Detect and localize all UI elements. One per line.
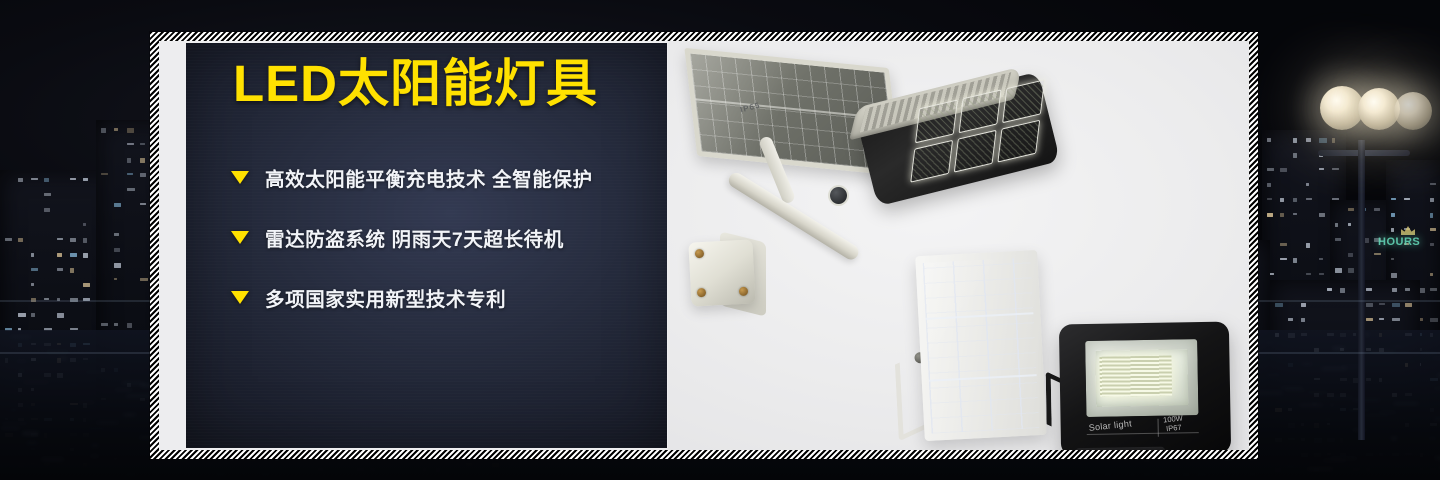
building-window <box>1319 273 1324 275</box>
building-sign: HOURS <box>1378 236 1434 262</box>
water-reflection <box>1432 357 1440 359</box>
flood-light-reflector <box>1085 339 1198 417</box>
building-window <box>1430 273 1433 276</box>
building-window <box>114 278 117 280</box>
reflector-inner <box>1095 349 1188 407</box>
water-reflection <box>9 409 18 411</box>
water-reflection <box>1 427 19 429</box>
building-window <box>1348 268 1354 273</box>
water-reflection <box>1330 458 1357 459</box>
building-window <box>1280 243 1287 246</box>
building-window <box>1340 288 1345 293</box>
water-reflection <box>1307 392 1329 393</box>
building-window <box>83 223 86 226</box>
water-reflection <box>65 381 70 382</box>
building-window <box>1319 213 1325 217</box>
waterfront-railing <box>1258 300 1440 302</box>
building-window <box>1267 138 1271 142</box>
building-window <box>70 253 77 257</box>
building-window <box>1430 213 1433 218</box>
water-reflection <box>1301 363 1314 365</box>
building-window <box>140 143 145 145</box>
building-window <box>31 253 34 257</box>
feature-text: 多项国家实用新型技术专利 <box>265 283 506 312</box>
led-module <box>910 139 953 182</box>
triangle-down-icon <box>231 291 249 304</box>
water-reflection <box>1323 419 1334 420</box>
water-reflection <box>78 401 94 404</box>
water-reflection <box>115 389 132 392</box>
building-window <box>57 238 63 240</box>
building-window <box>127 128 134 133</box>
building-window <box>127 323 132 328</box>
building-window <box>1293 153 1297 158</box>
water-reflection <box>22 432 39 434</box>
building-window <box>1293 258 1297 263</box>
flood-light-foot <box>1075 447 1165 450</box>
water-reflection <box>18 458 32 460</box>
triangle-down-icon <box>231 171 249 184</box>
flood-light-spec: 100W IP67 <box>1163 414 1184 435</box>
building-window <box>44 178 49 182</box>
waterfront-railing <box>1258 352 1440 354</box>
arm-pivot-joint <box>830 187 847 204</box>
building-window <box>83 283 90 287</box>
building-window <box>127 173 133 175</box>
building-window <box>1280 213 1284 217</box>
building-window <box>57 253 62 257</box>
building-window <box>31 283 34 286</box>
building-window <box>1280 258 1287 260</box>
building-window <box>1391 213 1395 217</box>
building-window <box>101 173 108 175</box>
water-reflection <box>114 446 126 448</box>
building-window <box>114 263 121 268</box>
water-reflection <box>86 428 107 429</box>
water-reflection <box>123 414 135 416</box>
water-reflection <box>59 357 66 360</box>
building-window <box>1267 168 1274 171</box>
water-reflection <box>1434 388 1440 389</box>
building-window <box>114 128 118 131</box>
building-window <box>1348 253 1353 257</box>
building-window <box>1335 238 1341 241</box>
product-photo-area: IP65 <box>668 41 1249 450</box>
water-reflection <box>18 370 26 372</box>
building-window <box>1392 288 1397 292</box>
building-window <box>1306 198 1312 200</box>
building-window <box>1335 268 1342 273</box>
water-reflection <box>41 458 64 460</box>
building-window <box>1306 273 1311 275</box>
building-window <box>70 178 76 180</box>
flood-led-array <box>1099 356 1172 397</box>
building-window <box>57 313 64 318</box>
list-item: 多项国家实用新型技术专利 <box>231 282 651 312</box>
water-reflection <box>91 444 99 447</box>
water-reflection <box>1295 348 1308 350</box>
building-window <box>1391 228 1394 232</box>
bracket-bolt-icon <box>739 287 748 296</box>
water-reflection <box>1433 418 1440 420</box>
building-window <box>31 178 38 180</box>
building-window <box>1391 273 1397 278</box>
building-window <box>18 313 26 317</box>
building-window <box>1366 318 1373 321</box>
water-reflection <box>1285 389 1305 392</box>
building-window <box>1275 303 1283 307</box>
building-window <box>140 203 146 205</box>
water-reflection <box>1265 342 1275 344</box>
panel-glare <box>923 257 1040 433</box>
standalone-solar-panel-product <box>915 250 1047 441</box>
building-window <box>1430 318 1438 322</box>
building-window <box>1280 198 1284 202</box>
building-window <box>1374 208 1380 211</box>
building-window <box>1306 138 1311 142</box>
feature-text: 高效太阳能平衡充电技术 全智能保护 <box>265 163 593 192</box>
building-window <box>1366 303 1373 307</box>
building-window <box>70 238 76 242</box>
water-reflection <box>1 423 28 425</box>
building-window <box>140 173 146 177</box>
building-window <box>1348 208 1354 211</box>
building-window <box>1267 183 1271 187</box>
building-window <box>44 193 51 196</box>
building-window <box>1306 243 1310 248</box>
water-reflection <box>1323 460 1346 461</box>
bracket-bolt-icon <box>695 249 704 258</box>
building-window <box>1366 288 1372 291</box>
building-window <box>83 178 88 181</box>
waterfront-railing <box>0 300 150 302</box>
building-window <box>31 268 38 271</box>
building-window <box>1404 198 1410 200</box>
building-window <box>1306 183 1309 186</box>
solar-flood-light-product: Solar light 100W IP67 <box>1059 322 1231 450</box>
water-reflection <box>1365 333 1370 335</box>
building-window <box>1430 183 1436 185</box>
list-item: 雷达防盗系统 阴雨天7天超长待机 <box>231 222 651 252</box>
water-reflection <box>1391 437 1397 440</box>
building-window <box>1301 303 1306 307</box>
water-reflection <box>1379 412 1396 414</box>
water-reflection <box>1435 457 1440 459</box>
building-window <box>114 323 118 326</box>
building-window <box>140 278 148 281</box>
water-reflection <box>68 384 80 386</box>
building-window <box>83 238 87 243</box>
building-window <box>1335 223 1338 227</box>
feature-list: 高效太阳能平衡充电技术 全智能保护 雷达防盗系统 阴雨天7天超长待机 多项国家实… <box>231 162 651 342</box>
building-window <box>44 208 50 212</box>
building-window <box>1319 138 1327 143</box>
building-window <box>127 188 135 191</box>
building-window <box>1327 288 1332 291</box>
building-window <box>1293 138 1297 143</box>
panel-aluminum-frame <box>915 250 1047 441</box>
building-window <box>31 313 35 317</box>
water-reflection <box>96 421 119 424</box>
water-reflection <box>10 336 31 338</box>
label-underline <box>1087 432 1199 435</box>
building-window <box>1430 228 1436 231</box>
water-reflection <box>1307 468 1333 470</box>
water-reflection <box>1429 438 1436 439</box>
water-reflection <box>1332 347 1345 349</box>
water-reflection <box>1283 466 1298 467</box>
building-window <box>1391 198 1396 200</box>
led-module <box>954 129 997 172</box>
feature-text: 雷达防盗系统 阴雨天7天超长待机 <box>265 223 564 252</box>
building-window <box>1293 213 1297 215</box>
water-reflection <box>1329 404 1334 406</box>
water-reflection <box>1265 374 1281 376</box>
water-reflection <box>1319 394 1323 397</box>
building-window <box>1392 318 1400 321</box>
building-window <box>70 268 74 273</box>
water-reflection <box>1364 415 1389 416</box>
building-window <box>1348 223 1351 226</box>
building-window <box>1280 168 1287 172</box>
water-reflection <box>1352 399 1381 401</box>
flood-light-housing: Solar light 100W IP67 <box>1059 322 1231 450</box>
building-window <box>1288 318 1293 321</box>
building-window <box>1379 318 1384 320</box>
water-reflection <box>1329 396 1354 399</box>
building-window <box>1405 288 1410 291</box>
building-window <box>83 253 88 258</box>
building-window <box>101 128 106 133</box>
triangle-down-icon <box>231 231 249 244</box>
building-window <box>101 323 108 326</box>
building-window <box>18 178 23 182</box>
flood-light-label: Solar light <box>1088 418 1132 432</box>
water-reflection <box>1256 392 1283 393</box>
building-window <box>1301 318 1305 322</box>
building-window <box>1332 138 1335 143</box>
water-reflection <box>26 442 38 444</box>
water-reflection <box>23 381 49 383</box>
waterfront-railing <box>0 352 150 354</box>
building-window <box>127 158 131 163</box>
product-banner: HOURS LED太阳能灯具 高效太阳能平衡充电技术 全智能保护 雷达防盗系统 … <box>0 0 1440 480</box>
water-reflection <box>3 362 8 364</box>
building-window <box>114 233 119 236</box>
building-window <box>18 238 23 242</box>
building-window <box>1332 168 1339 170</box>
building-window <box>1430 198 1434 202</box>
building-window <box>1379 303 1385 305</box>
building-window <box>5 238 12 241</box>
water-reflection <box>1299 404 1323 405</box>
lamp-globe-icon <box>1394 92 1432 130</box>
building-window <box>1293 198 1297 202</box>
list-item: 高效太阳能平衡充电技术 全智能保护 <box>231 162 651 192</box>
water-reflection <box>85 371 104 373</box>
building-window <box>1405 303 1412 307</box>
building-window <box>1392 303 1400 307</box>
building-window <box>1430 288 1437 291</box>
water-reflection <box>1392 346 1404 348</box>
building-window <box>127 143 134 145</box>
wall-mount-bracket <box>688 239 755 306</box>
water-reflection <box>126 395 152 396</box>
led-module <box>997 119 1040 162</box>
building-window <box>57 268 63 271</box>
water-reflection <box>90 455 98 457</box>
building-window <box>1267 213 1273 217</box>
water-reflection <box>16 360 27 362</box>
page-title: LED太阳能灯具 <box>233 57 663 111</box>
building-window <box>114 248 120 252</box>
street-lamp-post <box>1358 140 1365 440</box>
label-divider <box>1158 419 1159 437</box>
building-window <box>1319 258 1323 260</box>
bracket-bolt-icon <box>697 288 706 297</box>
water-reflection <box>1393 402 1420 404</box>
building-window <box>1319 168 1324 170</box>
building-window <box>114 203 121 207</box>
building-window <box>140 158 145 163</box>
building-window <box>1267 198 1272 200</box>
